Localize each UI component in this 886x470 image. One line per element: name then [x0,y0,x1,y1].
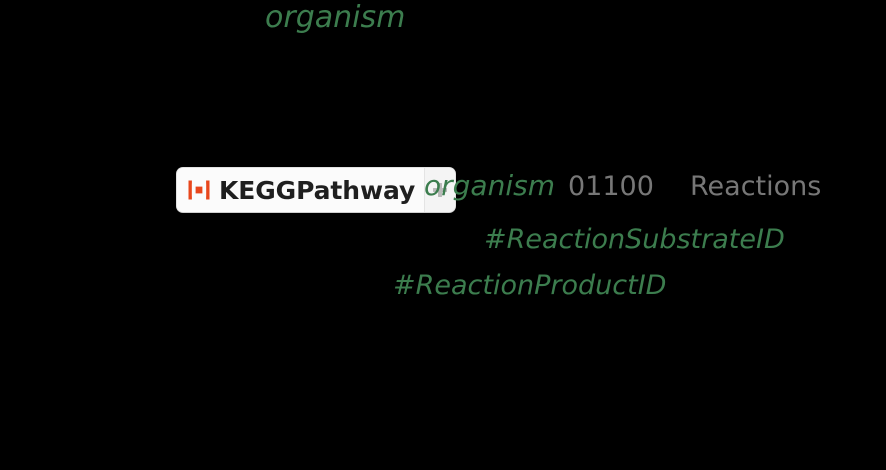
symbol-organism-line1[interactable]: organism [265,3,405,33]
resource-function-button-keggpathway[interactable]: KEGGPathway [176,167,456,213]
string-pathway-id[interactable]: 01100 [568,173,654,200]
notebook-code-cell[interactable]: organism KEGGPathway [0,0,886,470]
resource-button-main[interactable]: KEGGPathway [177,168,424,212]
slot-reaction-product-id[interactable]: #ReactionProductID [393,272,666,299]
string-reactions[interactable]: Reactions [690,173,821,200]
slot-reaction-substrate-id[interactable]: #ReactionSubstrateID [484,226,785,253]
resource-function-icon [188,179,210,201]
resource-button-label: KEGGPathway [219,178,415,203]
symbol-organism-line2[interactable]: organism [424,172,555,200]
